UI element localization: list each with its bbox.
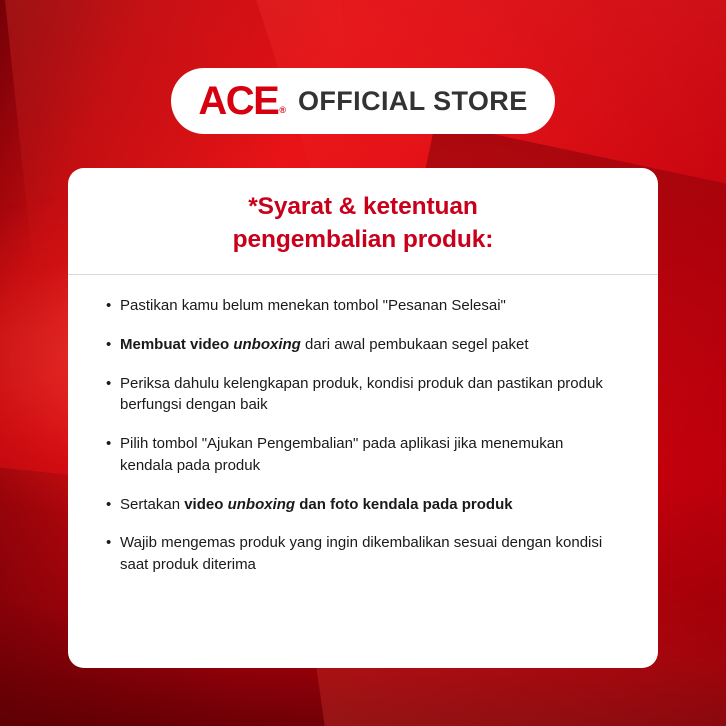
promo-poster: ACE® OFFICIAL STORE *Syarat & ketentuan … — [0, 0, 726, 726]
bullet-icon: • — [106, 532, 120, 553]
registered-trademark-icon: ® — [279, 105, 286, 115]
official-store-label: OFFICIAL STORE — [298, 88, 528, 115]
ace-logo: ACE® — [198, 81, 285, 121]
bullet-icon: • — [106, 373, 120, 394]
list-item: • Pastikan kamu belum menekan tombol "Pe… — [106, 295, 620, 317]
list-item-text: Membuat video unboxing dari awal pembuka… — [120, 334, 620, 356]
card-title-line-1: *Syarat & ketentuan — [108, 190, 618, 223]
list-item-text: Pilih tombol "Ajukan Pengembalian" pada … — [120, 433, 620, 477]
brand-logo-pill: ACE® OFFICIAL STORE — [171, 68, 555, 134]
bullet-icon: • — [106, 494, 120, 515]
ace-wordmark: ACE — [198, 81, 278, 121]
card-title-line-2: pengembalian produk: — [108, 223, 618, 256]
list-item-text: Pastikan kamu belum menekan tombol "Pesa… — [120, 295, 620, 317]
list-item: • Periksa dahulu kelengkapan produk, kon… — [106, 373, 620, 417]
card-title: *Syarat & ketentuan pengembalian produk: — [68, 168, 658, 256]
terms-list: • Pastikan kamu belum menekan tombol "Pe… — [68, 275, 658, 576]
terms-card: *Syarat & ketentuan pengembalian produk:… — [68, 168, 658, 668]
list-item-text: Wajib mengemas produk yang ingin dikemba… — [120, 532, 620, 576]
list-item-text: Periksa dahulu kelengkapan produk, kondi… — [120, 373, 620, 417]
bullet-icon: • — [106, 433, 120, 454]
list-item-text: Sertakan video unboxing dan foto kendala… — [120, 494, 620, 516]
bullet-icon: • — [106, 334, 120, 355]
list-item: • Pilih tombol "Ajukan Pengembalian" pad… — [106, 433, 620, 477]
list-item: • Wajib mengemas produk yang ingin dikem… — [106, 532, 620, 576]
list-item: • Membuat video unboxing dari awal pembu… — [106, 334, 620, 356]
list-item: • Sertakan video unboxing dan foto kenda… — [106, 494, 620, 516]
bullet-icon: • — [106, 295, 120, 316]
